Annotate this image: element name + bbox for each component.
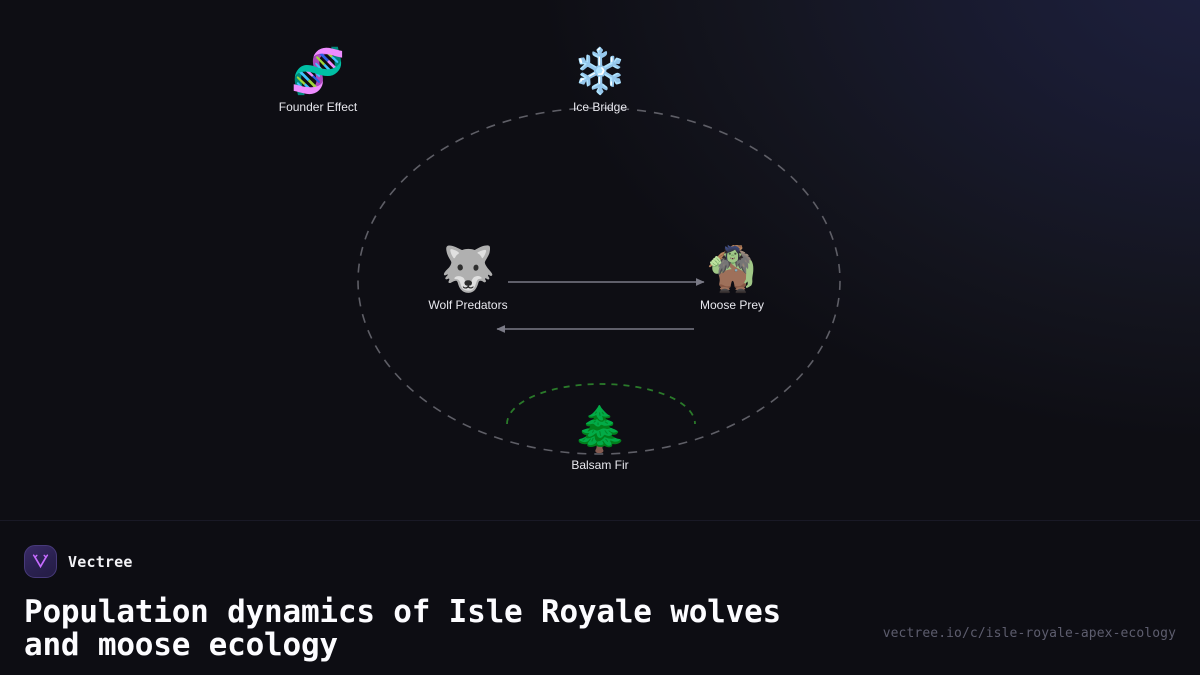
- page-title: Population dynamics of Isle Royale wolve…: [24, 596, 814, 662]
- graph-node-ice-bridge[interactable]: ❄️ Ice Bridge: [530, 46, 670, 115]
- graph-node-moose-prey[interactable]: 🧌 Moose Prey: [662, 244, 802, 313]
- wolf-icon: 🐺: [398, 244, 538, 296]
- moose-icon: 🧌: [662, 244, 802, 296]
- footer-bar: Vectree Population dynamics of Isle Roya…: [0, 520, 1200, 675]
- brand-name: Vectree: [68, 553, 133, 571]
- node-label-ice-bridge: Ice Bridge: [530, 100, 670, 115]
- graph-node-wolf-predators[interactable]: 🐺 Wolf Predators: [398, 244, 538, 313]
- evergreen-tree-icon: 🌲: [530, 404, 670, 456]
- node-label-founder-effect: Founder Effect: [248, 100, 388, 115]
- graph-node-founder-effect[interactable]: 🧬 Founder Effect: [248, 46, 388, 115]
- node-label-moose-prey: Moose Prey: [662, 298, 802, 313]
- dna-icon: 🧬: [248, 46, 388, 98]
- graph-node-balsam-fir[interactable]: 🌲 Balsam Fir: [530, 404, 670, 473]
- brand[interactable]: Vectree: [24, 545, 133, 578]
- graph-canvas[interactable]: 🧬 Founder Effect ❄️ Ice Bridge 🐺 Wolf Pr…: [0, 0, 1200, 520]
- node-label-balsam-fir: Balsam Fir: [530, 458, 670, 473]
- screenshot-root: 🧬 Founder Effect ❄️ Ice Bridge 🐺 Wolf Pr…: [0, 0, 1200, 675]
- snowflake-icon: ❄️: [530, 46, 670, 98]
- vectree-logo-icon: [24, 545, 57, 578]
- share-url[interactable]: vectree.io/c/isle-royale-apex-ecology: [883, 626, 1176, 641]
- node-label-wolf-predators: Wolf Predators: [398, 298, 538, 313]
